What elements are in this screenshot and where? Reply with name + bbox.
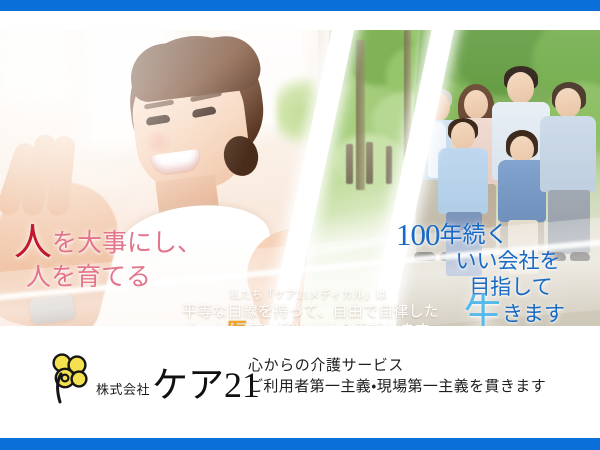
banner-root: 人を大事にし、 人を育てる 私たち「ケア21メディカル」は 平等な目線を持って、… xyxy=(0,0,600,450)
head xyxy=(451,122,475,150)
company-logo[interactable]: 株式会社 ケア21 xyxy=(48,352,260,404)
head xyxy=(464,90,488,119)
hero-left-line1-rest: を大事にし、 xyxy=(52,230,202,257)
fence-post xyxy=(386,146,392,184)
butterfly-clover-icon xyxy=(48,352,94,404)
head xyxy=(510,136,534,163)
hero-right-line4-rest: きます xyxy=(502,302,565,326)
window-pane xyxy=(8,34,60,94)
hero-copy-right: 100年続く いい会社を 目指して 生きます xyxy=(392,222,600,326)
company-name: ケア21 xyxy=(152,366,260,404)
company-tagline: 心からの介護サービス ご利用者第一主義・現場第一主義を貫きます xyxy=(248,356,546,398)
head xyxy=(507,72,534,104)
torso xyxy=(438,148,488,214)
tagline-line-2: ご利用者第一主義・現場第一主義を貫きます xyxy=(248,377,546,398)
hero-right-line4-big: 生 xyxy=(463,291,502,326)
top-accent-bar xyxy=(0,0,600,11)
overalls xyxy=(498,160,546,222)
hero-right-number: 100 xyxy=(396,217,440,252)
hero-left-line1-big: 人 xyxy=(14,222,52,264)
torso xyxy=(540,116,596,192)
hero-banner: 人を大事にし、 人を育てる 私たち「ケア21メディカル」は 平等な目線を持って、… xyxy=(0,30,600,326)
tagline-line-1: 心からの介護サービス xyxy=(248,356,546,377)
bottom-accent-bar xyxy=(0,438,600,450)
fence-post xyxy=(366,142,373,184)
nurse-blush xyxy=(142,132,176,152)
hero-copy-left: 人を大事にし、 人を育てる xyxy=(14,226,202,295)
footer: 株式会社 ケア21 心からの介護サービス ご利用者第一主義・現場第一主義を貫きま… xyxy=(0,326,600,438)
hero-left-line2: 人を育てる xyxy=(26,261,202,295)
tree-trunk xyxy=(356,40,365,190)
fence-post xyxy=(346,144,353,184)
head xyxy=(555,88,581,118)
company-prefix: 株式会社 xyxy=(96,379,150,404)
hero-right-line1-rest: 年続く xyxy=(440,222,509,247)
